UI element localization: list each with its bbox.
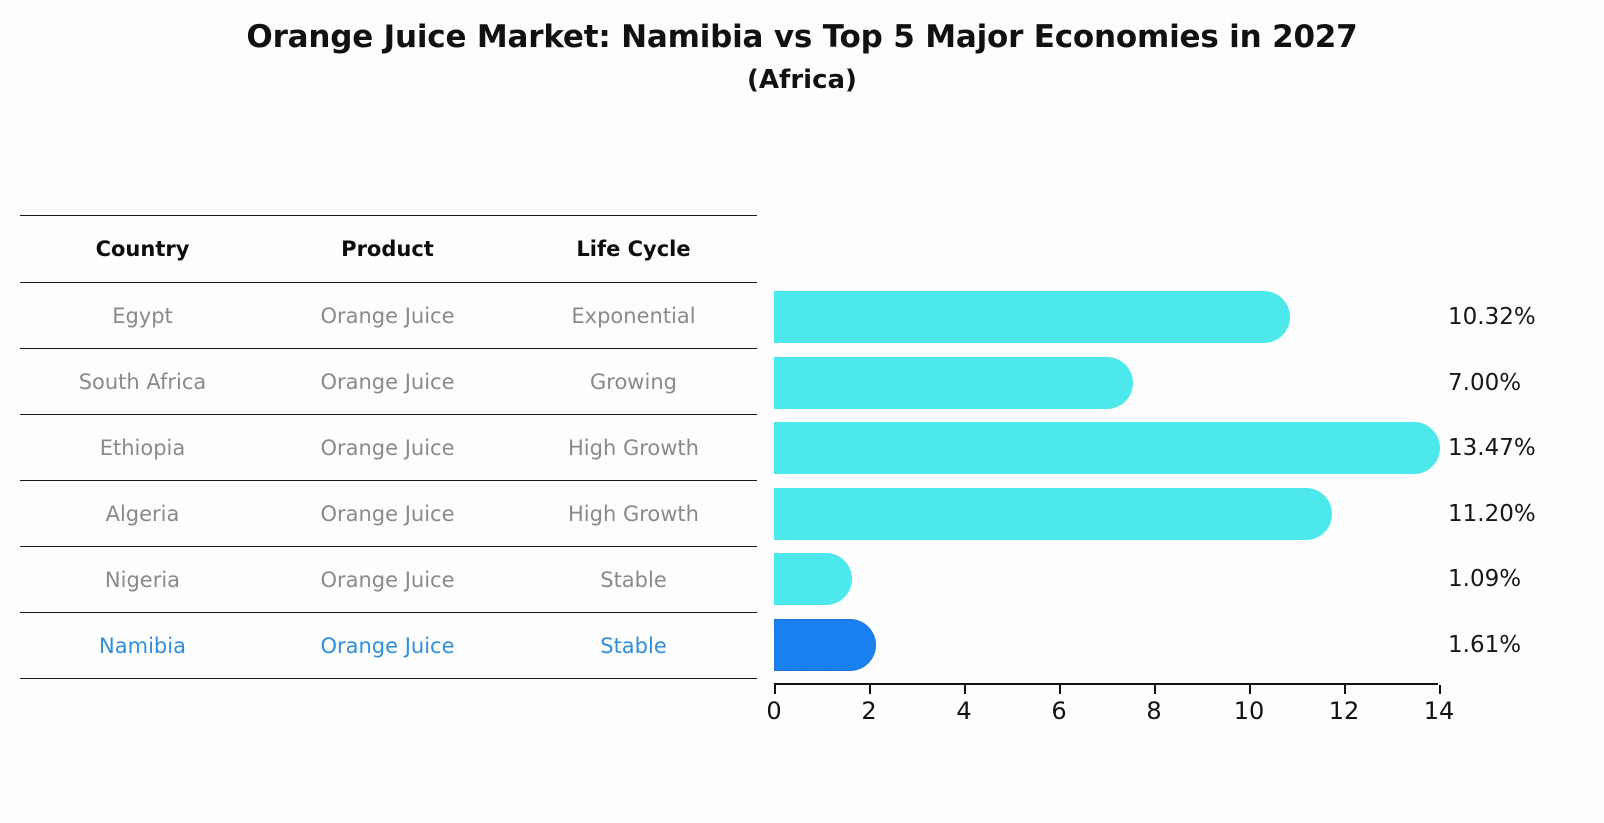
cell-life-cycle: Stable	[510, 547, 757, 613]
page-title: Orange Juice Market: Namibia vs Top 5 Ma…	[0, 14, 1604, 100]
bar-value-label: 13.47%	[1448, 435, 1536, 461]
bar[interactable]	[774, 291, 1290, 343]
bar-value-label: 1.61%	[1448, 632, 1521, 658]
title-line-2: (Africa)	[0, 60, 1604, 100]
table-row: NigeriaOrange JuiceStable	[20, 547, 757, 613]
axis-tick-label: 2	[861, 697, 876, 725]
table-row: AlgeriaOrange JuiceHigh Growth	[20, 481, 757, 547]
cell-product: Orange Juice	[265, 283, 510, 349]
cell-product: Orange Juice	[265, 481, 510, 547]
column-header-product: Product	[265, 216, 510, 283]
axis-tick-label: 0	[766, 697, 781, 725]
axis-tick	[1154, 685, 1156, 694]
bar[interactable]	[774, 357, 1133, 409]
axis-tick	[1439, 685, 1441, 694]
cell-product: Orange Juice	[265, 547, 510, 613]
bar-row: 11.20%	[774, 488, 1454, 540]
axis-tick-label: 6	[1051, 697, 1066, 725]
axis-tick-label: 4	[956, 697, 971, 725]
bar-value-label: 10.32%	[1448, 304, 1536, 330]
axis-tick-label: 12	[1329, 697, 1360, 725]
cell-product: Orange Juice	[265, 613, 510, 679]
bar-chart: 10.32%7.00%13.47%11.20%1.09%1.61%	[774, 270, 1454, 690]
title-line-1: Orange Juice Market: Namibia vs Top 5 Ma…	[0, 14, 1604, 60]
cell-country: South Africa	[20, 349, 265, 415]
bar-highlighted[interactable]	[774, 619, 876, 671]
spec-table: Country Product Life Cycle EgyptOrange J…	[20, 215, 757, 679]
axis-tick	[774, 685, 776, 694]
chart-page: Orange Juice Market: Namibia vs Top 5 Ma…	[0, 0, 1604, 823]
axis-tick	[1249, 685, 1251, 694]
axis-line	[774, 683, 1438, 685]
bar-row: 10.32%	[774, 291, 1454, 343]
cell-life-cycle: High Growth	[510, 415, 757, 481]
bar[interactable]	[774, 553, 852, 605]
axis-tick-label: 14	[1424, 697, 1455, 725]
cell-product: Orange Juice	[265, 349, 510, 415]
bar-value-label: 11.20%	[1448, 501, 1536, 527]
cell-life-cycle: Exponential	[510, 283, 757, 349]
axis-tick	[1059, 685, 1061, 694]
cell-country: Egypt	[20, 283, 265, 349]
column-header-country: Country	[20, 216, 265, 283]
table-row: NamibiaOrange JuiceStable	[20, 613, 757, 679]
table-row: South AfricaOrange JuiceGrowing	[20, 349, 757, 415]
bar-value-label: 1.09%	[1448, 566, 1521, 592]
bar[interactable]	[774, 488, 1332, 540]
cell-product: Orange Juice	[265, 415, 510, 481]
bar-row: 1.61%	[774, 619, 1454, 671]
bar[interactable]	[774, 422, 1440, 474]
bar-row: 13.47%	[774, 422, 1454, 474]
bar-row: 1.09%	[774, 553, 1454, 605]
cell-life-cycle: Growing	[510, 349, 757, 415]
cell-country: Nigeria	[20, 547, 265, 613]
cell-country: Ethiopia	[20, 415, 265, 481]
column-header-life-cycle: Life Cycle	[510, 216, 757, 283]
table-header-row: Country Product Life Cycle	[20, 216, 757, 283]
bar-row: 7.00%	[774, 357, 1454, 409]
axis-tick-label: 10	[1234, 697, 1265, 725]
cell-life-cycle: Stable	[510, 613, 757, 679]
axis-tick	[964, 685, 966, 694]
axis-tick-label: 8	[1146, 697, 1161, 725]
cell-life-cycle: High Growth	[510, 481, 757, 547]
axis-tick	[869, 685, 871, 694]
table-row: EthiopiaOrange JuiceHigh Growth	[20, 415, 757, 481]
cell-country: Namibia	[20, 613, 265, 679]
axis-tick	[1344, 685, 1346, 694]
cell-country: Algeria	[20, 481, 265, 547]
bar-value-label: 7.00%	[1448, 370, 1521, 396]
table-row: EgyptOrange JuiceExponential	[20, 283, 757, 349]
x-axis: 02468101214	[774, 683, 1439, 684]
